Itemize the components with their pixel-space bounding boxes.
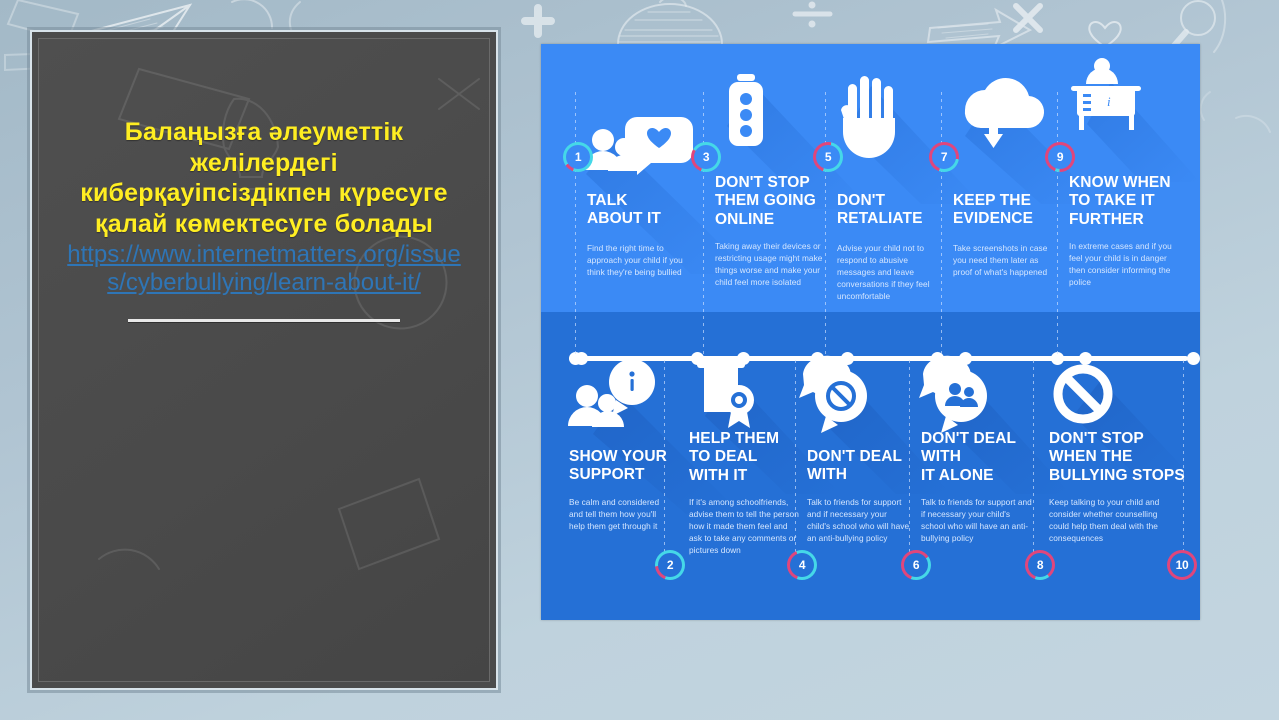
step-column-2: SHOW YOUR SUPPORT Be calm and considered…: [559, 360, 675, 620]
column-divider: [825, 92, 826, 356]
step-body-2: Be calm and considered and tell them how…: [569, 496, 669, 532]
step-column-3: 3 DON'T STOP THEM GOING ONLINE Taking aw…: [703, 44, 831, 356]
step-column-4: HELP THEM TO DEAL WITH IT If it's among …: [681, 360, 805, 620]
step-number-badge-10: 10: [1167, 550, 1197, 580]
step-number-badge-9: 9: [1045, 142, 1075, 172]
step-column-8: DON'T DEAL WITH IT ALONE Talk to friends…: [913, 360, 1041, 620]
step-body-10: Keep talking to your child and consider …: [1049, 496, 1177, 544]
step-title-9: KNOW WHEN TO TAKE IT FURTHER: [1069, 174, 1193, 229]
step-column-6: DON'T DEAL WITH Talk to friends for supp…: [799, 360, 917, 620]
step-title-10: DON'T STOP WHEN THE BULLYING STOPS: [1049, 430, 1191, 485]
step-column-10: DON'T STOP WHEN THE BULLYING STOPS Keep …: [1041, 360, 1191, 620]
step-body-3: Taking away their devices or restricting…: [715, 240, 827, 288]
step-number-1: 1: [566, 145, 590, 169]
divider-rule: [128, 319, 400, 322]
step-body-7: Take screenshots in case you need them l…: [953, 242, 1049, 278]
step-title-6: DON'T DEAL WITH: [807, 448, 919, 485]
step-title-7: KEEP THE EVIDENCE: [953, 192, 1057, 229]
step-body-5: Advise your child not to respond to abus…: [837, 242, 941, 302]
step-body-6: Talk to friends for support and if neces…: [807, 496, 911, 544]
step-column-9: 9 KNOW WHEN TO TAKE IT FURTHER In extrem…: [1057, 44, 1187, 356]
step-number-badge-5: 5: [813, 142, 843, 172]
page-title: Балаңызға әлеуметтік желілердегі киберқа…: [63, 117, 465, 239]
resource-link[interactable]: https://www.internetmatters.org/issues/c…: [63, 241, 465, 297]
step-number-badge-7: 7: [929, 142, 959, 172]
step-title-1: TALK ABOUT IT: [587, 192, 691, 229]
step-title-8: DON'T DEAL WITH IT ALONE: [921, 430, 1043, 485]
step-title-5: DON'T RETALIATE: [837, 192, 947, 229]
step-body-1: Find the right time to approach your chi…: [587, 242, 683, 278]
step-number-9: 9: [1048, 145, 1072, 169]
step-number-badge-3: 3: [691, 142, 721, 172]
column-divider: [941, 92, 942, 356]
step-column-1: 1 TALK ABOUT IT Find the right time to a…: [575, 44, 691, 356]
column-divider: [575, 92, 576, 356]
step-number-2: 2: [658, 553, 682, 577]
title-panel-inner: Балаңызға әлеуметтік желілердегі киберқа…: [38, 38, 490, 682]
step-title-4: HELP THEM TO DEAL WITH IT: [689, 430, 807, 485]
step-column-7: 7 KEEP THE EVIDENCE Take screenshots in …: [941, 44, 1053, 356]
title-panel: Балаңызға әлеуметтік желілердегі киберқа…: [30, 30, 498, 690]
cyberbullying-infographic: i: [541, 44, 1200, 620]
step-number-7: 7: [932, 145, 956, 169]
step-body-9: In extreme cases and if you feel your ch…: [1069, 240, 1181, 288]
step-title-2: SHOW YOUR SUPPORT: [569, 448, 677, 485]
title-panel-content: Балаңызға әлеуметтік желілердегі киберқа…: [39, 117, 489, 322]
step-number-5: 5: [816, 145, 840, 169]
column-divider: [703, 92, 704, 356]
step-number-badge-1: 1: [563, 142, 593, 172]
step-title-3: DON'T STOP THEM GOING ONLINE: [715, 174, 835, 229]
step-column-5: 5 DON'T RETALIATE Advise your child not …: [825, 44, 943, 356]
step-number-10: 10: [1170, 553, 1194, 577]
column-divider: [1057, 92, 1058, 356]
step-body-8: Talk to friends for support and if neces…: [921, 496, 1035, 544]
step-body-4: If it's among schoolfriends, advise them…: [689, 496, 801, 556]
step-number-3: 3: [694, 145, 718, 169]
